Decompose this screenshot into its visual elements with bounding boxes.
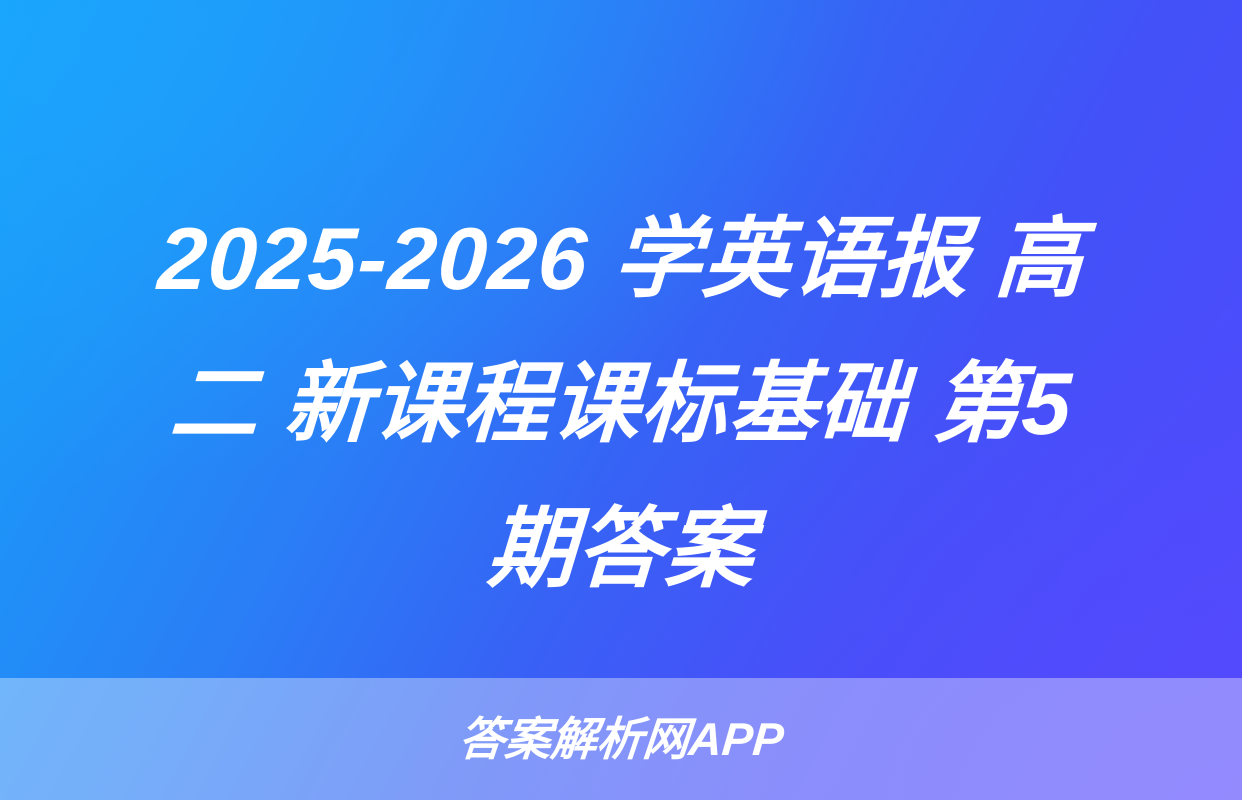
headline-line-3: 期答案 — [14, 476, 1228, 621]
headline-block: 2025-2026 学英语报 高 二 新课程课标基础 第5 期答案 — [0, 186, 1242, 621]
headline-line-1: 2025-2026 学英语报 高 — [14, 186, 1228, 331]
watermark-app-label: 答案解析网APP — [457, 716, 786, 762]
poster-canvas: 2025-2026 学英语报 高 二 新课程课标基础 第5 期答案 答案解析网A… — [0, 0, 1242, 800]
watermark-band: 答案解析网APP — [0, 678, 1242, 800]
headline-line-2: 二 新课程课标基础 第5 — [14, 331, 1228, 476]
